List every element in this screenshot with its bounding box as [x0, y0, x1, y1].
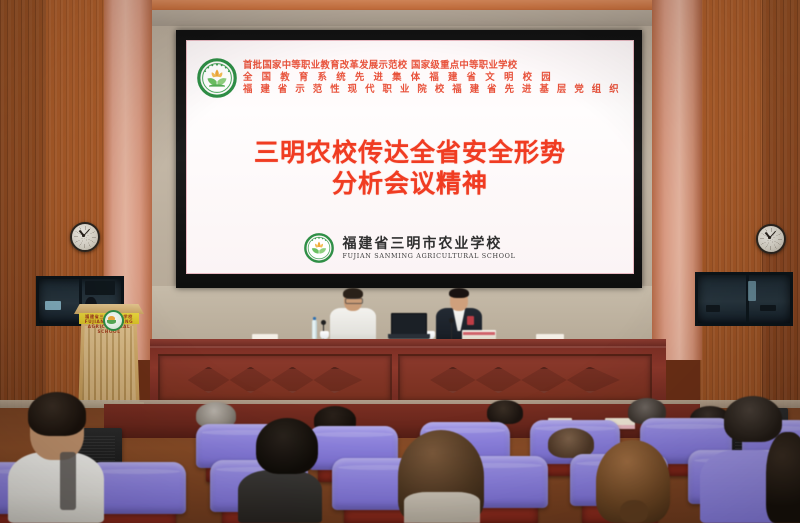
bag-strap [60, 452, 76, 510]
speaker-right-hair [449, 288, 469, 298]
presidium-table [150, 346, 666, 408]
school-emblem-icon [197, 58, 237, 98]
table-panel-diamond [188, 367, 363, 394]
emblem-leaf [107, 320, 116, 324]
slide-title-line-2: 分析会议精神 [187, 168, 633, 201]
monitor-glow [748, 281, 756, 301]
speaker-left [330, 286, 376, 344]
mic-capsule [449, 318, 454, 323]
clock-center-pin [82, 234, 85, 237]
control-equipment [706, 305, 720, 312]
control-equipment [85, 281, 115, 295]
banner-line-3: 福 建 省 示 范 性 现 代 职 业 院 校 福 建 省 先 进 基 层 党 … [243, 85, 621, 95]
speaker-right-badge [467, 316, 474, 325]
clock-ticks [74, 226, 96, 248]
wall-clock-left [70, 222, 100, 252]
school-emblem-footer-icon [304, 233, 334, 263]
clock-center-pin [768, 236, 771, 239]
tea-cup-left [320, 331, 329, 339]
audience-hair-left-front [28, 392, 86, 436]
av-control-window-right [695, 272, 793, 326]
school-name-en: FUJIAN SANMING AGRICULTURAL SCHOOL [342, 253, 515, 259]
mic-stem [451, 322, 452, 340]
banner-line-1: 首批国家中等职业教育改革发展示范校 国家级重点中等职业学校 [243, 61, 621, 71]
table-panel-diamond [430, 367, 620, 394]
audience-body-midleft [238, 470, 322, 523]
lectern-emblem-icon [103, 310, 124, 331]
slide-footer-text: 福建省三明市农业学校 FUJIAN SANMING AGRICULTURAL S… [342, 237, 515, 259]
slide-header: 首批国家中等职业教育改革发展示范校 国家级重点中等职业学校 全 国 教 育 系 … [197, 53, 621, 103]
banner-line-2: 全 国 教 育 系 统 先 进 集 体 福 建 省 文 明 校 园 [243, 73, 621, 83]
audience-hair-right [724, 396, 782, 442]
slide-banner-lines: 首批国家中等职业教育改革发展示范校 国家级重点中等职业学校 全 国 教 育 系 … [243, 61, 621, 95]
audience-head-right-edge [766, 432, 800, 523]
mic-capsule [321, 320, 326, 325]
projection-screen: 首批国家中等职业教育改革发展示范校 国家级重点中等职业学校 全 国 教 育 系 … [186, 40, 634, 274]
microphone-right [448, 316, 456, 340]
audience-head-r3-3 [487, 400, 523, 424]
audience-body-white-shirt [8, 452, 104, 523]
lectern-fluting [82, 326, 136, 402]
slide-footer-lockup: 福建省三明市农业学校 FUJIAN SANMING AGRICULTURAL S… [187, 233, 633, 263]
audience-hair-midleft [256, 418, 318, 474]
school-name-cn: 福建省三明市农业学校 [342, 237, 515, 251]
speaker-left-glasses [345, 298, 363, 304]
bottle-cap [313, 317, 317, 320]
conference-hall-photo: 首批国家中等职业教育改革发展示范校 国家级重点中等职业学校 全 国 教 育 系 … [0, 0, 800, 523]
water-bottle-left [312, 320, 317, 339]
ponytail [620, 500, 648, 523]
audience-body-long-left [404, 492, 480, 523]
monitor-glow [45, 301, 61, 310]
control-equipment [760, 305, 776, 311]
wall-clock-right [756, 224, 786, 254]
slide-title: 三明农校传达全省安全形势 分析会议精神 [187, 137, 633, 201]
slide-title-line-1: 三明农校传达全省安全形势 [187, 137, 633, 168]
laptop-computer[interactable] [388, 313, 430, 341]
clock-ticks [760, 228, 782, 250]
name-plate-text [463, 332, 495, 335]
table-panel-left [158, 354, 392, 402]
table-panel-right [398, 354, 652, 402]
